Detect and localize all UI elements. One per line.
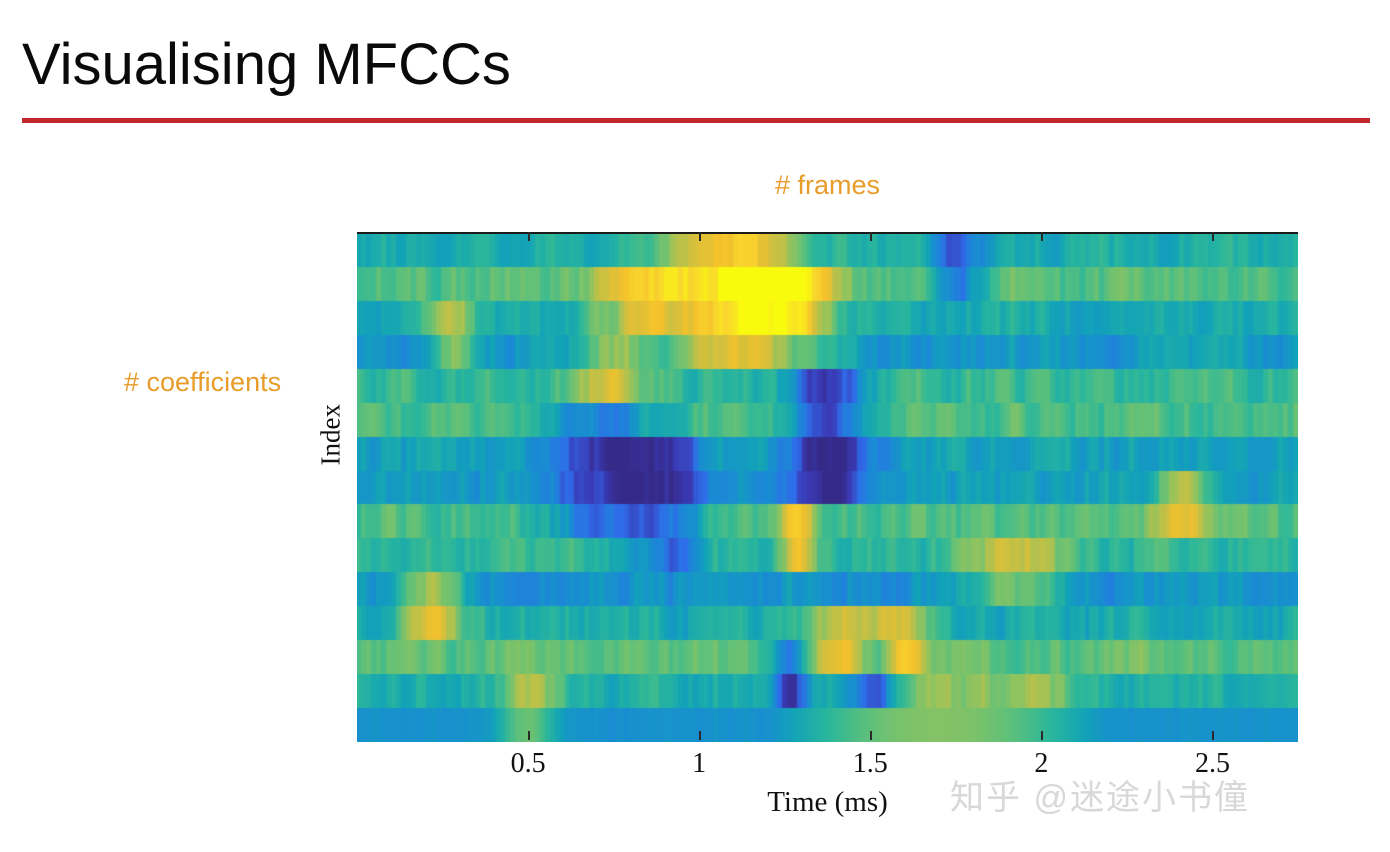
x-axis-tick-top (870, 232, 872, 241)
x-axis-tick-label: 0.5 (511, 748, 546, 780)
x-axis-tick (870, 731, 872, 740)
x-axis-tick-top (699, 232, 701, 241)
mfcc-heatmap-figure: # frames # coefficients Index 0.511.522.… (0, 0, 1390, 852)
x-axis-tick (1212, 731, 1214, 740)
y-axis-label: Index (316, 426, 347, 466)
x-axis-tick (528, 731, 530, 740)
x-axis-tick-label: 1 (692, 748, 706, 780)
x-axis-tick-top (1212, 232, 1214, 241)
heatmap-image (357, 234, 1298, 742)
x-axis-tick-top (528, 232, 530, 241)
watermark: 知乎 @迷途小书僮 (950, 770, 1250, 819)
x-axis-tick (1041, 731, 1043, 740)
heatmap-plot-area (357, 232, 1298, 742)
x-axis-tick-label: 1.5 (853, 748, 888, 780)
annotation-coefficients: # coefficients (124, 367, 281, 398)
annotation-frames: # frames (357, 170, 1298, 201)
x-axis-tick-top (1041, 232, 1043, 241)
x-axis-tick (699, 731, 701, 740)
